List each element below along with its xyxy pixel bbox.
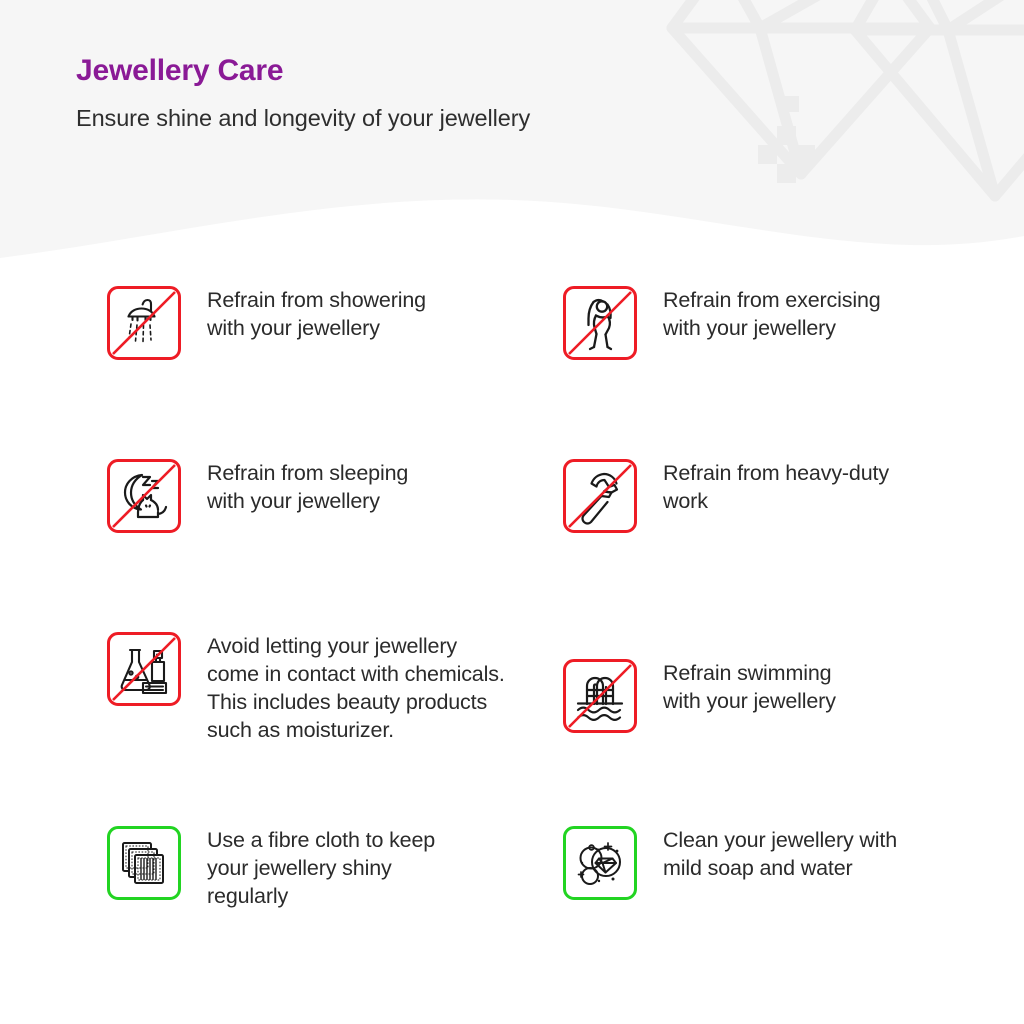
exercising-person-icon (563, 286, 637, 360)
swimming-pool-ladder-icon (563, 659, 637, 733)
tip-label: Refrain from exercising with your jewell… (637, 286, 881, 342)
page-subtitle: Ensure shine and longevity of your jewel… (76, 89, 776, 132)
tip-label: Refrain swimming with your jewellery (637, 659, 836, 715)
page-title: Jewellery Care (76, 54, 776, 89)
tip-label: Refrain from sleeping with your jeweller… (181, 459, 408, 515)
tip-no-sleeping: Refrain from sleeping with your jeweller… (107, 459, 408, 533)
tip-no-chemicals: Avoid letting your jewellery come in con… (107, 632, 505, 744)
tip-no-heavy-duty-work: Refrain from heavy-duty work (563, 459, 889, 533)
chemical-flask-bottles-icon (107, 632, 181, 706)
care-tips-grid: Refrain from showering with your jewelle… (0, 270, 1024, 950)
tip-clean-with-mild-soap: Clean your jewellery with mild soap and … (563, 826, 897, 900)
tip-label: Refrain from showering with your jewelle… (181, 286, 426, 342)
jewellery-care-page: Jewellery Care Ensure shine and longevit… (0, 0, 1024, 1024)
soap-bubbles-gem-icon (563, 826, 637, 900)
header-banner: Jewellery Care Ensure shine and longevit… (0, 0, 1024, 270)
tip-label: Refrain from heavy-duty work (637, 459, 889, 515)
tip-label: Use a fibre cloth to keep your jewellery… (181, 826, 435, 910)
header-background-shape (0, 0, 1024, 270)
hammer-icon (563, 459, 637, 533)
fibre-cloth-stack-icon (107, 826, 181, 900)
tip-use-fibre-cloth: Use a fibre cloth to keep your jewellery… (107, 826, 435, 910)
sleeping-moon-cat-icon (107, 459, 181, 533)
tip-no-exercising: Refrain from exercising with your jewell… (563, 286, 881, 360)
tip-no-swimming: Refrain swimming with your jewellery (563, 659, 836, 733)
tip-label: Clean your jewellery with mild soap and … (637, 826, 897, 882)
tip-no-showering: Refrain from showering with your jewelle… (107, 286, 426, 360)
header-text-block: Jewellery Care Ensure shine and longevit… (76, 54, 776, 132)
tip-label: Avoid letting your jewellery come in con… (181, 632, 505, 744)
shower-head-icon (107, 286, 181, 360)
